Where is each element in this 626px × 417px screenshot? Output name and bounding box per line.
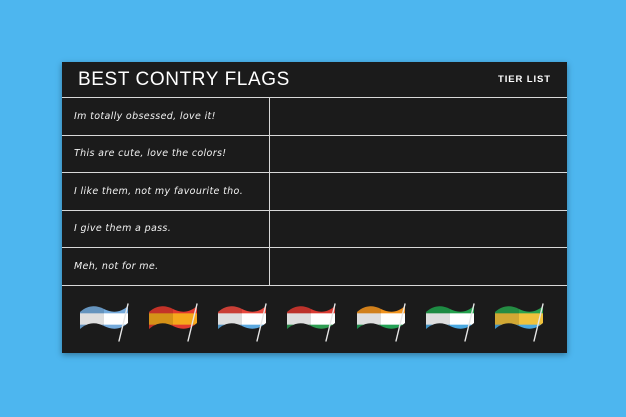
flag-slot[interactable] — [418, 286, 487, 352]
tier-row[interactable]: I give them a pass. — [62, 211, 567, 249]
flag-slot[interactable] — [349, 286, 418, 352]
tier-row[interactable]: Im totally obsessed, love it! — [62, 98, 567, 136]
tier-row[interactable]: Meh, not for me. — [62, 248, 567, 286]
tier-row[interactable]: I like them, not my favourite tho. — [62, 173, 567, 211]
page-title: BEST CONTRY FLAGS — [78, 69, 290, 91]
tier-row-dropzone[interactable] — [270, 211, 567, 248]
tier-row-label: Im totally obsessed, love it! — [62, 98, 270, 135]
tier-row-dropzone[interactable] — [270, 248, 567, 285]
india-flag[interactable] — [355, 296, 413, 342]
flag-slot[interactable] — [211, 286, 280, 352]
hungary-flag[interactable] — [285, 296, 343, 342]
tier-list-panel: BEST CONTRY FLAGS TIER LIST Im totally o… — [62, 62, 567, 353]
flag-slot[interactable] — [72, 286, 141, 352]
spain-flag[interactable] — [147, 296, 205, 342]
tier-row-label: Meh, not for me. — [62, 248, 270, 285]
tier-row-label: This are cute, love the colors! — [62, 136, 270, 173]
tier-row-label: I like them, not my favourite tho. — [62, 173, 270, 210]
flag-slot[interactable] — [141, 286, 210, 352]
gabon-flag[interactable] — [493, 296, 551, 342]
sierra-leone-flag[interactable] — [424, 296, 482, 342]
flag-tray — [62, 286, 567, 352]
panel-header: BEST CONTRY FLAGS TIER LIST — [62, 62, 567, 97]
flag-slot[interactable] — [280, 286, 349, 352]
tier-list-badge: TIER LIST — [498, 74, 551, 85]
tier-row[interactable]: This are cute, love the colors! — [62, 136, 567, 174]
tier-row-dropzone[interactable] — [270, 98, 567, 135]
argentina-flag[interactable] — [78, 296, 136, 342]
luxembourg-flag[interactable] — [216, 296, 274, 342]
tier-rows: Im totally obsessed, love it! This are c… — [62, 97, 567, 286]
tier-row-label: I give them a pass. — [62, 211, 270, 248]
tier-row-dropzone[interactable] — [270, 136, 567, 173]
tier-row-dropzone[interactable] — [270, 173, 567, 210]
flag-slot[interactable] — [488, 286, 557, 352]
